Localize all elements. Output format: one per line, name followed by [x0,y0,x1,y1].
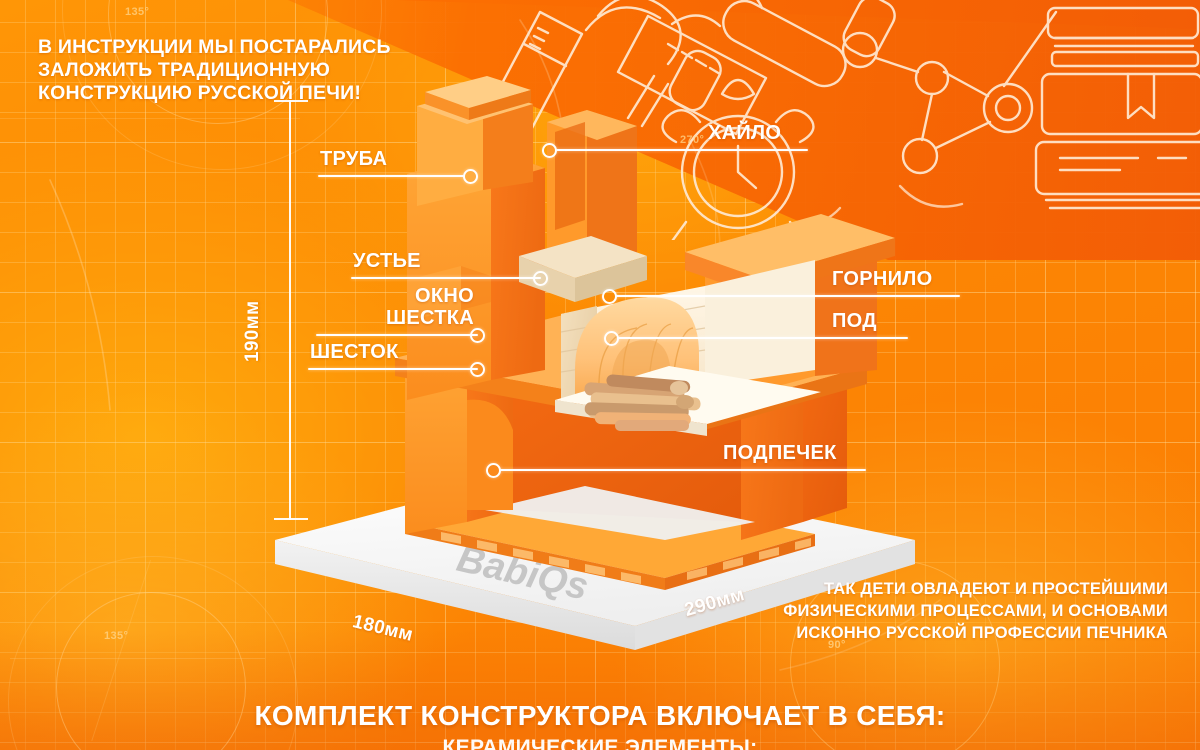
callout-shestok-dot[interactable] [470,362,485,377]
callout-truba-rule [318,175,464,177]
callout-truba-label: ТРУБА [320,148,387,170]
footer-subtitle: КЕРАМИЧЕСКИЕ ЭЛЕМЕНТЫ: [0,736,1200,750]
callout-shestok-rule [308,368,478,370]
callout-truba-dot[interactable] [463,169,478,184]
callout-ustye-rule [351,277,541,279]
callout-gornilo-rule [616,295,960,297]
callout-khaylo-dot[interactable] [542,143,557,158]
side-note-text: ТАК ДЕТИ ОВЛАДЕЮТ И ПРОСТЕЙШИМИ ФИЗИЧЕСК… [728,578,1168,644]
callout-shestok-label: ШЕСТОК [310,341,399,363]
callout-okno-shestka-label: ОКНО ШЕСТКА [316,285,474,329]
callout-ustye-dot[interactable] [533,271,548,286]
callout-khaylo-label: ХАЙЛО [708,122,781,144]
callout-okno-shestka-rule [316,334,478,336]
callout-podpechek-label: ПОДПЕЧЕК [723,442,837,464]
callout-khaylo-rule [556,149,808,151]
dimension-height-cap-top [274,100,308,102]
callout-ustye-label: УСТЬЕ [353,250,421,272]
callout-podpechek-rule [500,469,866,471]
callout-gornilo-label: ГОРНИЛО [832,268,932,290]
callout-pod-label: ПОД [832,310,877,332]
infographic-canvas: 135° 135° 90° [0,0,1200,750]
callout-pod-dot[interactable] [604,331,619,346]
tech-label-270: 270° [680,134,704,146]
dimension-height-line [289,100,291,520]
callout-gornilo-dot[interactable] [602,289,617,304]
callout-podpechek-dot[interactable] [486,463,501,478]
callout-pod-rule [618,337,908,339]
dimension-height-cap-bottom [274,518,308,520]
callout-okno-shestka-dot[interactable] [470,328,485,343]
footer-title: КОМПЛЕКТ КОНСТРУКТОРА ВКЛЮЧАЕТ В СЕБЯ: [0,700,1200,732]
dimension-height-label: 190мм [242,301,264,362]
